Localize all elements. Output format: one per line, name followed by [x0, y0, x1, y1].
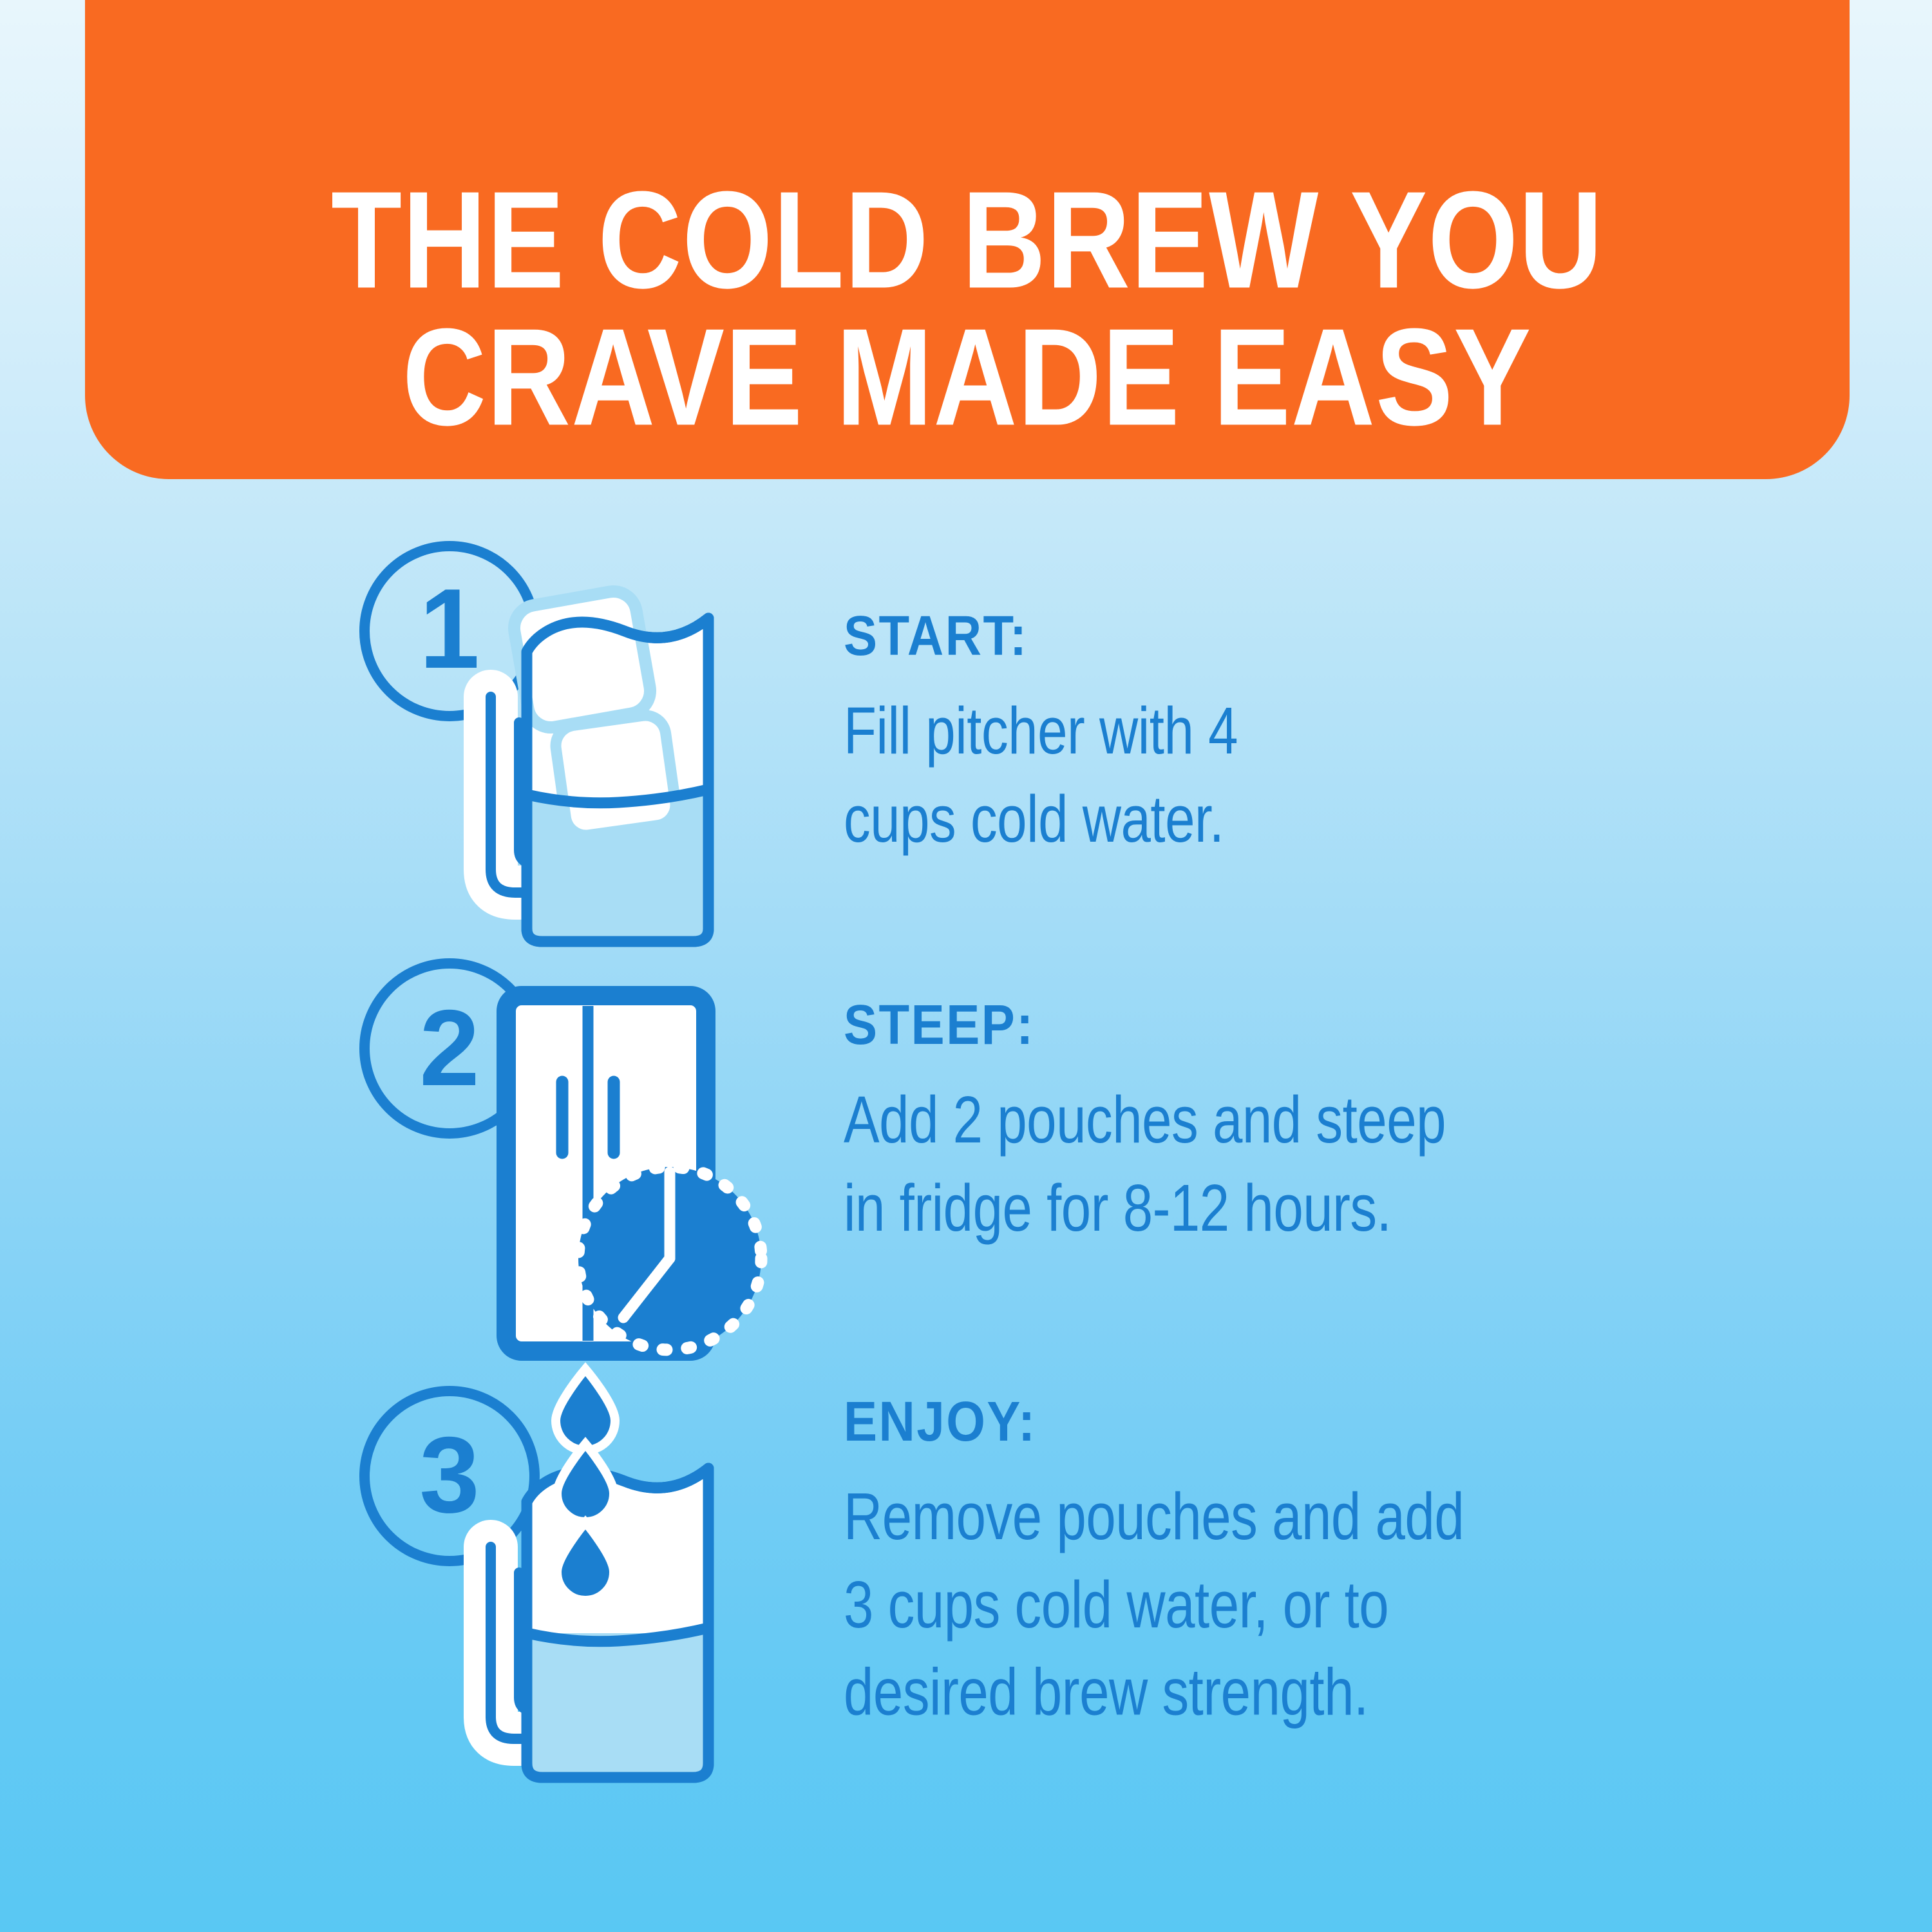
step-number-2: 2 [419, 987, 479, 1108]
step-item-3: 3 [0, 1365, 1932, 1790]
step-1-body: Fill pitcher with 4 cups cold water. [844, 688, 1643, 863]
step-item-2: 2 ST [0, 953, 1932, 1365]
page-title-line-1: THE COLD BREW YOU [331, 169, 1603, 310]
step-2-body: Add 2 pouches and steep in fridge for 8-… [844, 1077, 1643, 1252]
step-3-body: Remove pouches and add 3 cups cold water… [844, 1473, 1643, 1737]
header-banner: THE COLD BREW YOU CRAVE MADE EASY [85, 0, 1850, 479]
step-2-body-line-2: in fridge for 8-12 hours. [844, 1164, 1643, 1252]
step-3-body-line-3: desired brew strength. [844, 1649, 1643, 1736]
step-3-text: ENJOY: Remove pouches and add 3 cups col… [844, 1396, 1668, 1693]
step-item-1: 1 [0, 535, 1932, 953]
step-2-label: STEEP: [844, 996, 1668, 1052]
step-1-body-line-2: cups cold water. [844, 775, 1643, 863]
step-1-text: START: Fill pitcher with 4 cups cold wat… [844, 611, 1668, 834]
clock-icon [578, 1167, 761, 1350]
step-1-body-line-1: Fill pitcher with 4 [844, 688, 1643, 775]
step-number-1: 1 [419, 565, 479, 692]
pitcher-with-water-drops-icon: 3 [348, 1365, 799, 1790]
step-2-text: STEEP: Add 2 pouches and steep in fridge… [844, 999, 1668, 1223]
step-number-3: 3 [419, 1414, 479, 1535]
step-3-illustration: 3 [348, 1365, 799, 1790]
pitcher3-water-fill [522, 1633, 715, 1794]
steps-list: 1 [0, 535, 1932, 1790]
water-drop-middle [557, 1444, 614, 1522]
pitcher-with-ice-icon: 1 [348, 535, 799, 953]
step-3-body-line-2: 3 cups cold water, or to [844, 1561, 1643, 1649]
step-1-label: START: [844, 607, 1668, 663]
refrigerator-with-clock-icon: 2 [348, 953, 799, 1365]
step-3-body-line-1: Remove pouches and add [844, 1473, 1643, 1561]
step-1-illustration: 1 [348, 535, 799, 953]
ice-cube-bottom [553, 713, 678, 838]
step-3-label: ENJOY: [844, 1393, 1668, 1449]
page-title-line-2: CRAVE MADE EASY [402, 307, 1531, 448]
infographic-canvas: THE COLD BREW YOU CRAVE MADE EASY 1 [0, 0, 1932, 1932]
step-2-illustration: 2 [348, 953, 799, 1365]
step-2-body-line-1: Add 2 pouches and steep [844, 1077, 1643, 1164]
